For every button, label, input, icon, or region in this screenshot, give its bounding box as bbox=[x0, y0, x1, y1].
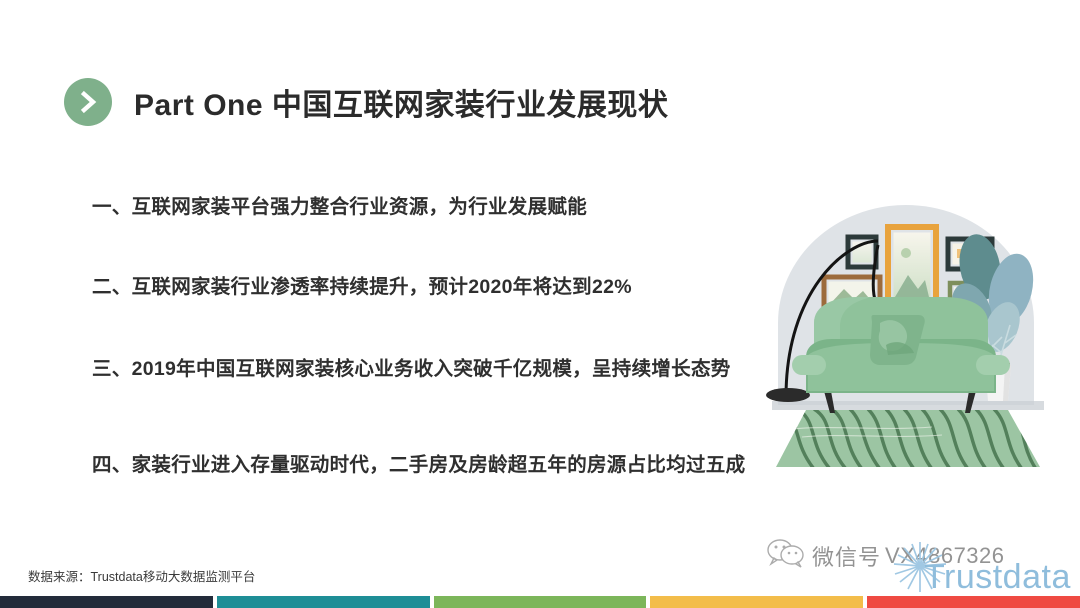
list-item: 三、2019年中国互联网家装核心业务收入突破千亿规模，呈持续增长态势 bbox=[92, 352, 731, 381]
bar-segment-teal bbox=[217, 596, 430, 608]
source-note: 数据来源：Trustdata移动大数据监测平台 bbox=[28, 566, 255, 585]
wechat-icon bbox=[766, 538, 806, 573]
trustdata-logo: Trustdata bbox=[890, 540, 1080, 602]
bar-segment-navy bbox=[0, 596, 213, 608]
bar-segment-green bbox=[434, 596, 647, 608]
list-item: 四、家装行业进入存量驱动时代，二手房及房龄超五年的房源占比均过五成 bbox=[92, 448, 745, 477]
slide-title-row: Part One 中国互联网家装行业发展现状 bbox=[64, 78, 668, 126]
bar-segment-red bbox=[867, 596, 1080, 608]
page-title: Part One 中国互联网家装行业发展现状 bbox=[134, 80, 668, 124]
living-room-illustration bbox=[762, 205, 1080, 470]
chevron-right-icon bbox=[64, 78, 112, 126]
slide-canvas: Part One 中国互联网家装行业发展现状 一、互联网家装平台强力整合行业资源… bbox=[0, 0, 1080, 608]
trustdata-wordmark: Trustdata bbox=[924, 558, 1071, 596]
list-item: 二、互联网家装行业渗透率持续提升，预计2020年将达到22% bbox=[92, 270, 632, 299]
bottom-color-bar bbox=[0, 596, 1080, 608]
wechat-label: 微信号 bbox=[812, 540, 881, 572]
list-item: 一、互联网家装平台强力整合行业资源，为行业发展赋能 bbox=[92, 190, 587, 219]
bar-segment-amber bbox=[650, 596, 863, 608]
